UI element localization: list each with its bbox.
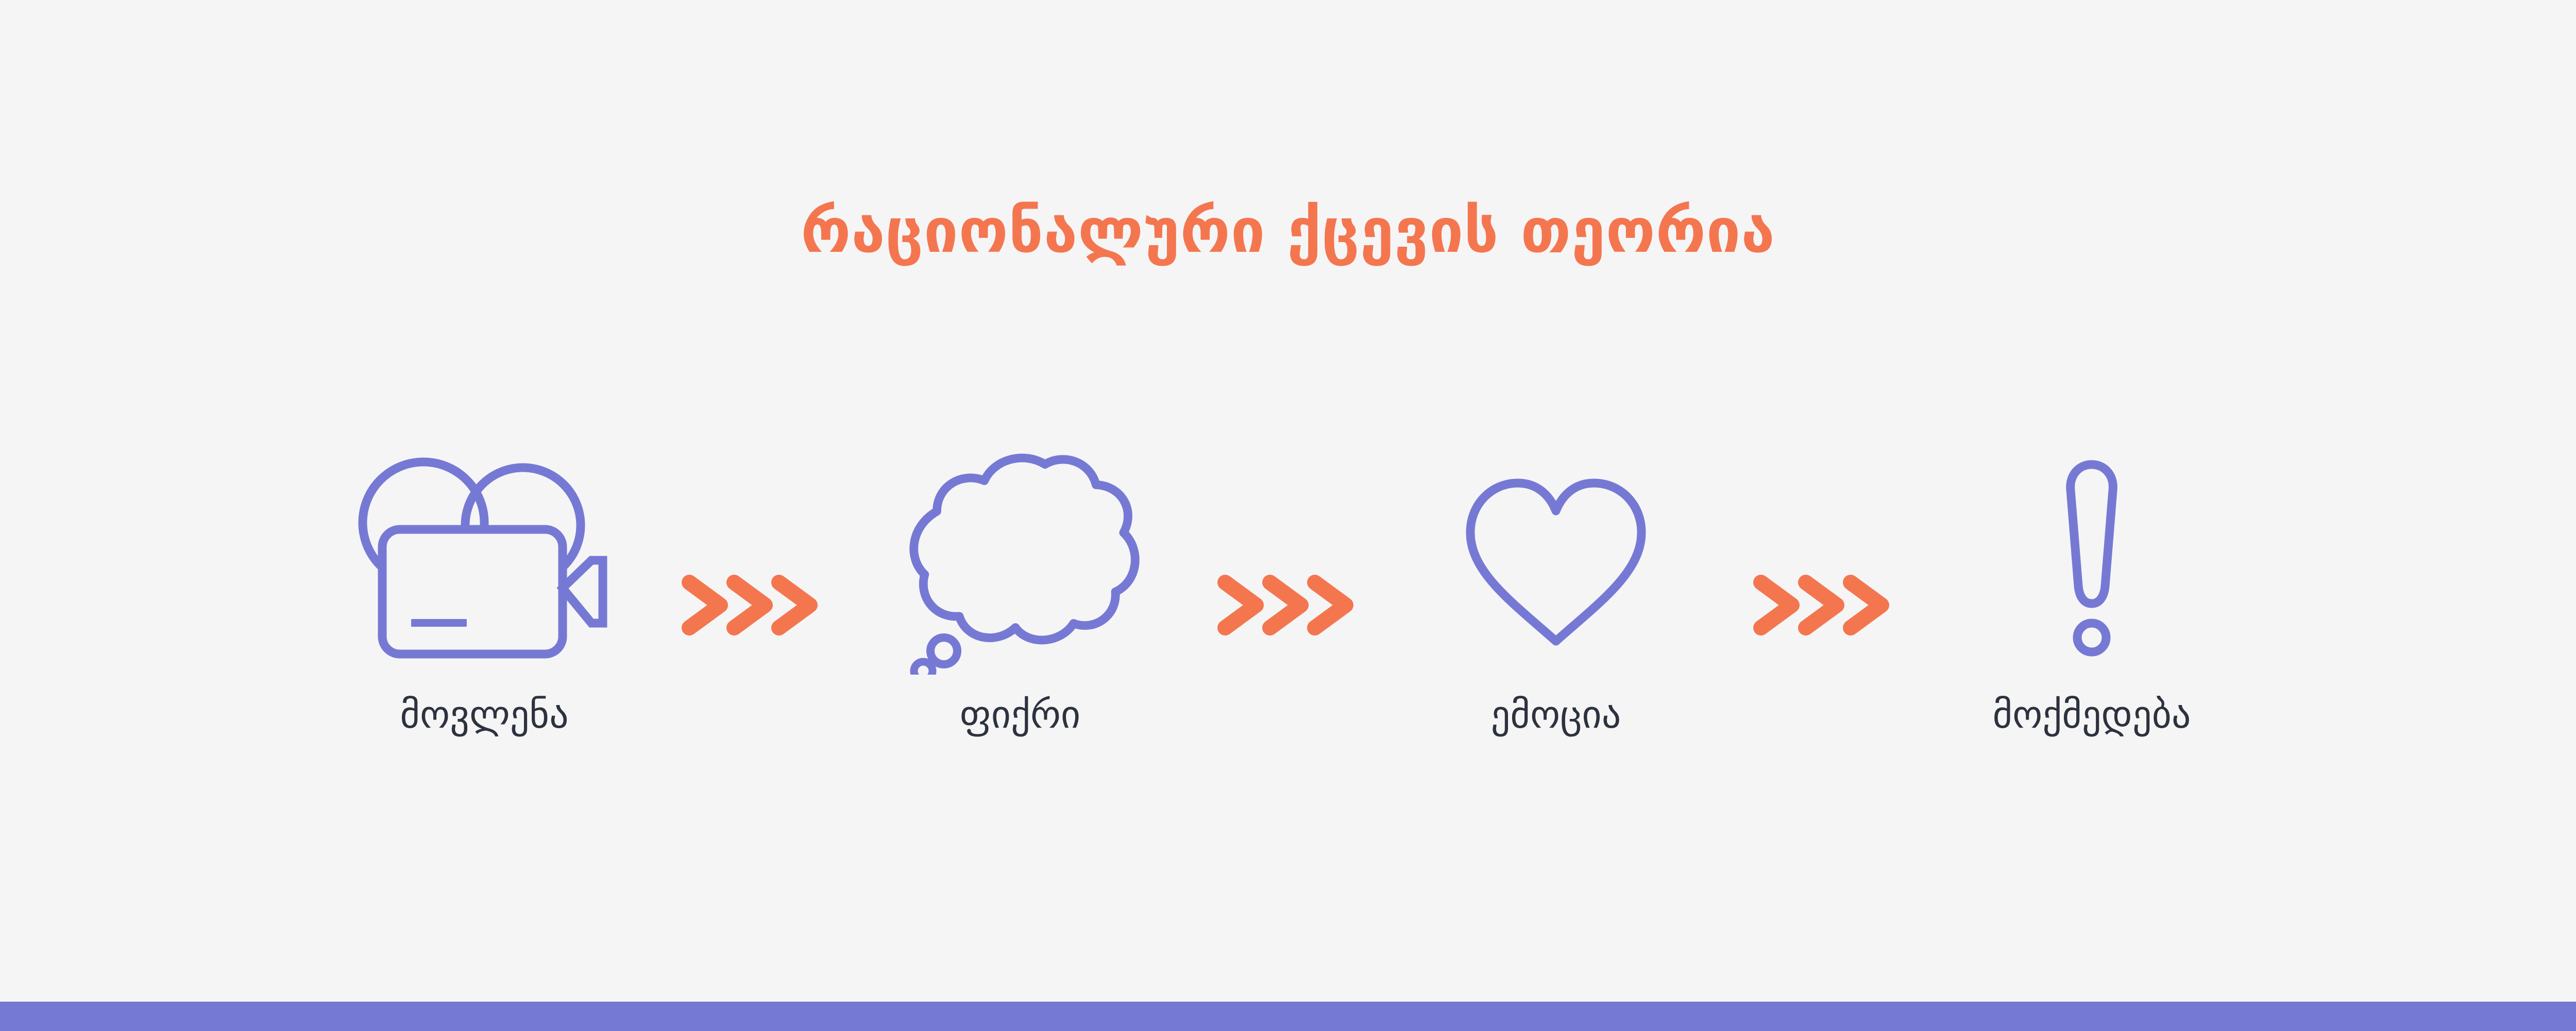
thought-bubble-icon xyxy=(829,453,1211,675)
flow-step-label: ფიქრი xyxy=(960,693,1081,737)
page-title-container: რაციონალური ქცევის თეორია xyxy=(0,154,2576,307)
triple-chevron-right-icon xyxy=(1211,453,1365,636)
flow-step-label: ემოცია xyxy=(1491,693,1621,737)
triple-chevron-right-icon xyxy=(1747,453,1901,636)
slide-canvas: რაციონალური ქცევის თეორია მოვლე xyxy=(0,0,2576,1031)
bottom-accent-bar xyxy=(0,1002,2576,1031)
process-flow: მოვლენა ფიქრი xyxy=(0,453,2576,814)
flow-step-action: მოქმედება xyxy=(1901,453,2282,737)
movie-camera-icon xyxy=(294,453,675,675)
exclamation-mark-icon xyxy=(1901,453,2282,675)
flow-step-emotion: ემოცია xyxy=(1365,453,1747,737)
flow-step-label: მოვლენა xyxy=(400,693,568,737)
flow-step-event: მოვლენა xyxy=(294,453,675,737)
heart-icon xyxy=(1365,453,1747,675)
flow-step-label: მოქმედება xyxy=(1993,693,2191,737)
triple-chevron-right-icon xyxy=(675,453,829,636)
flow-step-thought: ფიქრი xyxy=(829,453,1211,737)
page-title: რაციონალური ქცევის თეორია xyxy=(801,195,1775,267)
